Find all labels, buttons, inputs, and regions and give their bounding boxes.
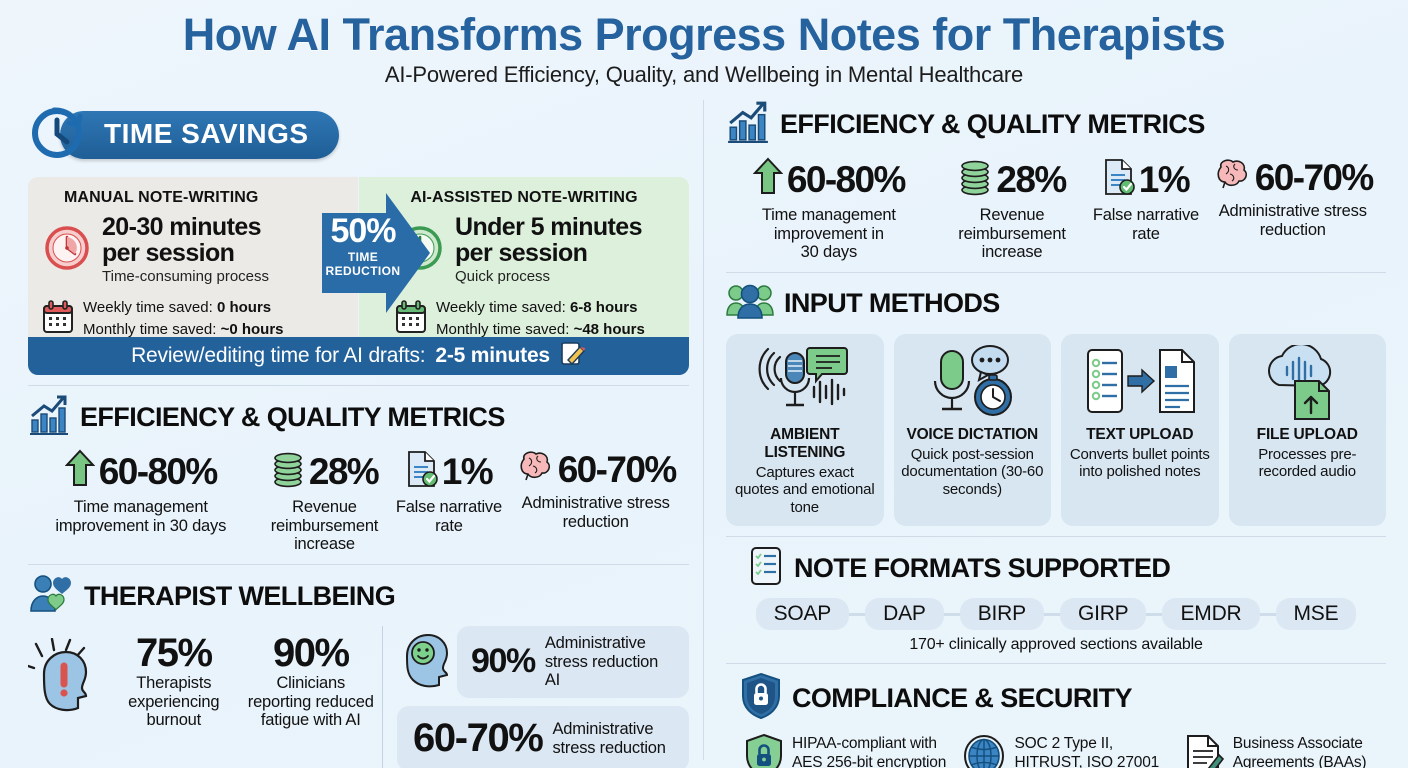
efficiency-title-right: EFFICIENCY & QUALITY METRICS [780,109,1205,140]
metric-label: False narrative rate [395,498,502,535]
reduction-line2: REDUCTION [320,264,406,278]
green-up-arrow-icon [753,157,783,202]
compliance-text: HIPAA-compliant with AES 256-bit encrypt… [792,733,956,768]
note-format-pills: SOAP DAP BIRP GIRP EMDR MSE [726,598,1386,630]
red-calendar-icon [42,300,74,339]
compliance-text: Business Associate Agreements (BAAs) req… [1233,733,1386,768]
manual-saved-lines: Weekly time saved: 0 hours Monthly time … [83,297,284,341]
metric-revenue: 28% Revenue reimbursement increase [932,157,1093,261]
manual-monthly-value: ~0 hours [221,321,284,338]
wellbeing-title: THERAPIST WELLBEING [84,581,395,612]
ai-time-caption: Quick process [455,268,642,285]
shield-lock-icon [740,672,782,725]
card-desc: Captures exact quotes and emotional tone [732,464,878,517]
compliance-title: COMPLIANCE & SECURITY [792,683,1132,714]
wellbeing-stats: 75% Therapists experiencing burnout 90% … [28,626,383,768]
card-desc: Quick post-session documentation (30-60 … [900,446,1046,499]
compliance-header: COMPLIANCE & SECURITY [740,672,1386,725]
compliance-items: HIPAA-compliant with AES 256-bit encrypt… [744,733,1386,768]
wellbeing-stat-value: 90% [248,632,374,674]
manual-saved-block: Weekly time saved: 0 hours Monthly time … [42,297,344,341]
wellbeing-box-60-70: 60-70% Administrativestress reduction [397,706,689,768]
metric-false-narrative: 1% False narrative rate [395,449,502,553]
reduction-line1: TIME [320,250,406,264]
format-pill-soap[interactable]: SOAP [756,598,850,630]
compliance-text: SOC 2 Type II,HITRUST, ISO 27001certific… [1014,733,1159,768]
bar-chart-up-icon [28,394,70,441]
note-formats-caption: 170+ clinically approved sections availa… [726,636,1386,654]
efficiency-metrics-right: 60-80% Time managementimprovement in30 d… [726,157,1386,261]
card-desc: Converts bullet points into polished not… [1067,446,1213,481]
metric-top: 60-70% [502,449,689,490]
clock-refresh-icon [28,102,88,167]
format-pill-emdr[interactable]: EMDR [1162,598,1259,630]
brain-icon [1213,157,1251,198]
metric-label: Time management improvement in 30 days [28,498,254,535]
wellbeing-box-label: Administrativestress reduction AI [545,634,675,690]
reduction-arrow-text: 50% TIME REDUCTION [320,215,406,277]
green-shield-lock-icon [744,733,784,768]
ai-monthly-value: ~48 hours [574,321,645,338]
left-divider-2 [28,564,689,565]
metric-top: 60-80% [28,449,254,494]
ai-monthly-line: Monthly time saved: ~48 hours [436,319,645,341]
metric-label: Revenue reimbursement increase [254,498,396,553]
bar-chart-up-icon [726,100,770,149]
wellbeing-body: 75% Therapists experiencing burnout 90% … [28,626,689,768]
format-pill-birp[interactable]: BIRP [960,598,1044,630]
manual-panel: MANUAL NOTE-WRITING 2 [28,177,358,337]
efficiency-metrics-left: 60-80% Time management improvement in 30… [28,449,689,553]
metric-value: 28% [996,161,1065,198]
ai-time-value-line2: per session [455,241,642,267]
card-ambient-listening[interactable]: AMBIENT LISTENING Captures exact quotes … [726,334,884,527]
metric-top: 60-70% [1199,157,1386,198]
metric-value: 1% [1139,161,1189,198]
review-value: 2-5 minutes [435,344,550,368]
efficiency-title-left: EFFICIENCY & QUALITY METRICS [80,402,505,433]
metric-time-management: 60-80% Time management improvement in 30… [28,449,254,553]
ai-saved-lines: Weekly time saved: 6-8 hours Monthly tim… [436,297,645,341]
card-voice-dictation[interactable]: VOICE DICTATION Quick post-session docum… [894,334,1052,527]
right-divider-1 [726,272,1386,273]
metric-label: Time managementimprovement in30 days [726,206,932,261]
right-column: EFFICIENCY & QUALITY METRICS 60-80% Time… [703,100,1408,760]
ai-weekly-label: Weekly time saved: [436,299,570,316]
metric-revenue: 28% Revenue reimbursement increase [254,449,396,553]
metric-false-narrative: 1% False narrative rate [1092,157,1199,261]
wellbeing-header: THERAPIST WELLBEING [28,573,689,620]
format-pill-dap[interactable]: DAP [865,598,944,630]
person-hearts-icon [28,573,74,620]
manual-time-text: 20-30 minutes per session Time-consuming… [102,215,269,285]
pill-separator [1260,613,1276,616]
metric-label: Revenue reimbursement increase [932,206,1093,261]
ai-weekly-value: 6-8 hours [570,299,638,316]
people-group-icon [726,281,774,326]
page-title: How AI Transforms Progress Notes for The… [0,0,1408,60]
format-pill-girp[interactable]: GIRP [1060,598,1147,630]
metric-value: 60-70% [1255,159,1373,196]
manual-time-value-line2: per session [102,241,269,267]
format-pill-mse[interactable]: MSE [1276,598,1357,630]
card-file-upload[interactable]: FILE UPLOAD Processes pre-recorded audio [1229,334,1387,527]
microphone-chat-waveform-icon [732,344,878,422]
document-check-icon [406,449,438,494]
pill-separator [849,613,865,616]
left-divider-1 [28,385,689,386]
coins-stack-icon [271,449,305,494]
time-savings-badge: TIME SAVINGS [60,111,339,159]
cloud-upload-audio-icon [1235,344,1381,422]
metric-label: Administrative stress reduction [1199,202,1386,239]
card-text-upload[interactable]: TEXT UPLOAD Converts bullet points into … [1061,334,1219,527]
ai-time-text: Under 5 minutes per session Quick proces… [455,215,642,285]
compliance-item-certifications: SOC 2 Type II,HITRUST, ISO 27001certific… [962,733,1176,768]
note-formats-title: NOTE FORMATS SUPPORTED [794,553,1170,584]
wellbeing-stat-label: Therapists experiencing burnout [106,674,242,730]
input-method-cards: AMBIENT LISTENING Captures exact quotes … [726,334,1386,527]
time-comparison: MANUAL NOTE-WRITING 2 [28,177,689,337]
note-formats-header: NOTE FORMATS SUPPORTED [748,545,1386,592]
checklist-clipboard-icon [748,545,784,592]
wellbeing-box-90: 90% Administrativestress reduction AI [457,626,689,698]
metric-time-management: 60-80% Time managementimprovement in30 d… [726,157,932,261]
metric-admin-stress: 60-70% Administrative stress reduction [502,449,689,553]
brain-icon [516,449,554,490]
metric-value: 60-80% [787,161,905,198]
card-title: TEXT UPLOAD [1067,426,1213,444]
reduction-percent: 50% [320,215,406,247]
compliance-item-hipaa: HIPAA-compliant with AES 256-bit encrypt… [744,733,956,768]
metric-label: Administrative stress reduction [502,494,689,531]
metric-label: False narrative rate [1092,206,1199,243]
manual-heading: MANUAL NOTE-WRITING [64,189,344,207]
manual-monthly-line: Monthly time saved: ~0 hours [83,319,284,341]
wellbeing-box-1-row: 90% Administrativestress reduction AI [397,626,689,698]
card-desc: Processes pre-recorded audio [1235,446,1381,481]
manual-weekly-value: 0 hours [217,299,271,316]
efficiency-header-right: EFFICIENCY & QUALITY METRICS [726,100,1386,149]
coins-stack-icon [958,157,992,202]
list-to-document-icon [1067,344,1213,422]
time-savings-header: TIME SAVINGS [28,102,689,167]
ai-saved-block: Weekly time saved: 6-8 hours Monthly tim… [395,297,675,341]
metric-value: 1% [442,453,492,490]
signed-document-icon [1183,733,1225,768]
metric-top: 28% [932,157,1093,202]
wellbeing-box-value: 60-70% [413,716,542,761]
pill-separator [1044,613,1060,616]
input-methods-title: INPUT METHODS [784,288,1000,319]
manual-weekly-line: Weekly time saved: 0 hours [83,297,284,319]
document-check-icon [1103,157,1135,202]
card-title: AMBIENT LISTENING [732,426,878,462]
metric-top: 28% [254,449,396,494]
content-columns: TIME SAVINGS MANUAL NOTE-WRITING [0,100,1408,760]
manual-time-value: 20-30 minutes [102,215,269,241]
manual-monthly-label: Monthly time saved: [83,321,221,338]
wellbeing-box-label: Administrativestress reduction [552,720,665,758]
microphone-stopwatch-icon [900,344,1046,422]
pill-separator [944,613,960,616]
manual-time-row: 20-30 minutes per session Time-consuming… [42,215,344,285]
reduction-arrow: 50% TIME REDUCTION [320,191,432,316]
globe-icon [962,733,1006,768]
wellbeing-stat-fatigue: 90% Clinicians reporting reduced fatigue… [248,626,374,768]
metric-value: 60-70% [558,451,676,488]
pencil-note-icon [560,340,586,372]
metric-top: 1% [395,449,502,494]
ai-weekly-line: Weekly time saved: 6-8 hours [436,297,645,319]
left-column: TIME SAVINGS MANUAL NOTE-WRITING [0,100,703,760]
stressed-head-icon [28,626,100,768]
ai-monthly-label: Monthly time saved: [436,321,574,338]
ai-time-value: Under 5 minutes [455,215,642,241]
wellbeing-boxes: 90% Administrativestress reduction AI 60… [383,626,689,768]
wellbeing-stat-burnout: 75% Therapists experiencing burnout [106,626,242,768]
manual-time-caption: Time-consuming process [102,268,269,285]
wellbeing-box-value: 90% [471,642,535,681]
manual-weekly-label: Weekly time saved: [83,299,217,316]
red-clock-icon [42,223,92,278]
compliance-item-baa: Business Associate Agreements (BAAs) req… [1183,733,1386,768]
pill-separator [1146,613,1162,616]
happy-head-icon [397,630,451,693]
ai-time-row: Under 5 minutes per session Quick proces… [395,215,675,285]
metric-value: 28% [309,453,378,490]
card-title: FILE UPLOAD [1235,426,1381,444]
page-subtitle: AI-Powered Efficiency, Quality, and Well… [0,62,1408,88]
metric-admin-stress: 60-70% Administrative stress reduction [1199,157,1386,261]
metric-top: 60-80% [726,157,932,202]
wellbeing-stat-label: Clinicians reporting reduced fatigue wit… [248,674,374,730]
wellbeing-stat-value: 75% [106,632,242,674]
review-time-bar: Review/editing time for AI drafts: 2-5 m… [28,337,689,375]
card-title: VOICE DICTATION [900,426,1046,444]
green-up-arrow-icon [65,449,95,494]
efficiency-header-left: EFFICIENCY & QUALITY METRICS [28,394,689,441]
infographic-page: How AI Transforms Progress Notes for The… [0,0,1408,768]
right-divider-3 [726,663,1386,664]
review-label: Review/editing time for AI drafts: [131,344,425,368]
metric-top: 1% [1092,157,1199,202]
metric-value: 60-80% [99,453,217,490]
right-divider-2 [726,536,1386,537]
input-methods-header: INPUT METHODS [726,281,1386,326]
